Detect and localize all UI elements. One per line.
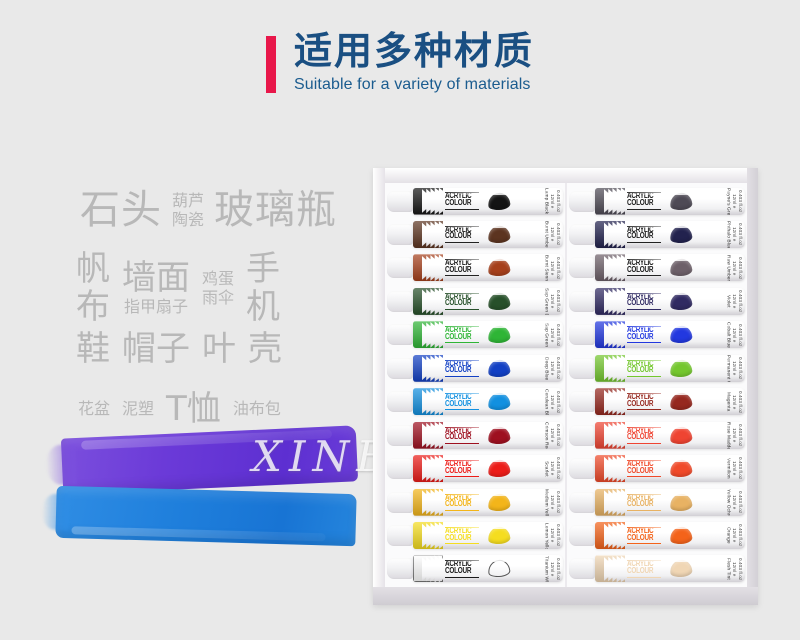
tube-volume-ml: 12ml e bbox=[731, 428, 736, 442]
tube-brand-label: ACRYLICCOLOUR bbox=[627, 360, 661, 377]
tube-column-2: ACRYLICCOLOURPayne's Grey12ml e0.403 fl.… bbox=[565, 183, 747, 587]
tube-cap bbox=[387, 358, 413, 379]
tube-color-swatch bbox=[487, 459, 511, 478]
tube-color-name: Sap Green Deep bbox=[543, 288, 548, 314]
tube-body: ACRYLICCOLOURRose Madder12ml e0.403 fl.o… bbox=[595, 422, 745, 449]
tube-body: ACRYLICCOLOURCobalt Blue12ml e0.403 fl.o… bbox=[595, 321, 745, 348]
tube-volume-ml: 12ml e bbox=[731, 495, 736, 509]
tube-crimp-end bbox=[595, 288, 625, 315]
tube-crimp-end bbox=[413, 455, 443, 482]
tube-info-label: Lamp Black12ml e0.403 fl.oz bbox=[510, 188, 563, 215]
tube-color-name: Flesh Tint bbox=[725, 558, 730, 580]
material-canvas-char-2: 布 bbox=[76, 288, 110, 326]
tube-info-label: Cobalt Blue12ml e0.403 fl.oz bbox=[692, 321, 745, 348]
tube-color-name: Payne's Grey bbox=[725, 188, 730, 214]
paint-tube[interactable]: ACRYLICCOLOURPhthalo Blue12ml e0.403 fl.… bbox=[569, 219, 745, 249]
tube-body: ACRYLICCOLOURYellow Ochre12ml e0.403 fl.… bbox=[595, 489, 745, 516]
tube-crimp-end bbox=[595, 455, 625, 482]
tube-volume-ml: 12ml e bbox=[731, 528, 736, 542]
box-rim-bottom bbox=[373, 587, 758, 605]
tube-body: ACRYLICCOLOURMedium Yellow12ml e0.403 fl… bbox=[413, 489, 563, 516]
tube-color-name: Rose Madder bbox=[725, 422, 730, 448]
tube-info-label: Raw Umber12ml e0.403 fl.oz bbox=[692, 254, 745, 281]
tube-body: ACRYLICCOLOURSap Green12ml e0.403 fl.oz bbox=[413, 321, 563, 348]
tube-color-name: Scarlet bbox=[543, 461, 548, 477]
tube-info-label: Phthalo Blue12ml e0.403 fl.oz bbox=[692, 221, 745, 248]
tube-volume-ml: 12ml e bbox=[731, 395, 736, 409]
paint-tube[interactable]: ACRYLICCOLOURScarlet12ml e0.403 fl.oz bbox=[387, 454, 563, 484]
tube-info-label: Flesh Tint12ml e0.403 fl.oz bbox=[692, 555, 745, 582]
tube-color-name: Lamp Black bbox=[543, 188, 548, 214]
tube-color-name: Medium Yellow bbox=[543, 489, 548, 515]
tube-volume-oz: 0.403 fl.oz bbox=[555, 190, 560, 212]
paint-tube[interactable]: ACRYLICCOLOURBurnt Sienna12ml e0.403 fl.… bbox=[387, 253, 563, 283]
tube-color-name: Magenta bbox=[725, 392, 730, 411]
tube-info-label: Titanium White12ml e0.403 fl.oz bbox=[510, 555, 563, 582]
material-phone-char-1: 手 bbox=[246, 250, 280, 288]
paint-tube[interactable]: ACRYLICCOLOURCobalt Blue12ml e0.403 fl.o… bbox=[569, 320, 745, 350]
tube-color-swatch bbox=[669, 426, 693, 445]
tube-volume-oz: 0.403 fl.oz bbox=[555, 324, 560, 346]
paint-tube[interactable]: ACRYLICCOLOURTitanium White12ml e0.403 f… bbox=[387, 554, 563, 584]
tube-color-swatch bbox=[487, 526, 511, 545]
material-gourd-ceramic: 葫芦 陶瓷 bbox=[172, 191, 204, 230]
brand-line-colour: COLOUR bbox=[627, 301, 661, 309]
tube-volume-ml: 12ml e bbox=[731, 194, 736, 208]
tube-crimp-end bbox=[413, 355, 443, 382]
material-shoes: 鞋 bbox=[76, 330, 110, 368]
tube-crimp-end bbox=[595, 388, 625, 415]
tube-crimp-end bbox=[595, 422, 625, 449]
tube-volume-oz: 0.403 fl.oz bbox=[555, 290, 560, 312]
material-hat: 帽子 bbox=[122, 330, 190, 368]
tube-brand-label: ACRYLICCOLOUR bbox=[445, 326, 479, 343]
tube-info-label: Medium Yellow12ml e0.403 fl.oz bbox=[510, 489, 563, 516]
brand-line-colour: COLOUR bbox=[445, 568, 479, 576]
brand-line-colour: COLOUR bbox=[445, 434, 479, 442]
tube-body: ACRYLICCOLOURSap Green Deep12ml e0.403 f… bbox=[413, 288, 563, 315]
material-umbrella: 雨伞 bbox=[202, 288, 234, 308]
tube-body: ACRYLICCOLOURFlesh Tint12ml e0.403 fl.oz bbox=[595, 555, 745, 582]
brand-line-colour: COLOUR bbox=[627, 234, 661, 242]
tube-brand-label: ACRYLICCOLOUR bbox=[627, 460, 661, 477]
material-shell: 壳 bbox=[248, 330, 282, 368]
materials-word-cloud: 石头 葫芦 陶瓷 玻璃瓶 帆 布 墙面 指甲扇子 鸡蛋 雨伞 手 机 鞋 bbox=[58, 188, 358, 438]
paint-tube-tray: ACRYLICCOLOURLamp Black12ml e0.403 fl.oz… bbox=[385, 183, 747, 587]
tube-color-name: Burnt Umber bbox=[543, 221, 548, 247]
tube-volume-ml: 12ml e bbox=[731, 261, 736, 275]
tube-brand-label: ACRYLICCOLOUR bbox=[445, 360, 479, 377]
tube-cap bbox=[569, 257, 595, 278]
material-tshirt: T恤 bbox=[166, 390, 221, 428]
tube-cap bbox=[569, 558, 595, 579]
tube-info-label: Deep Blue12ml e0.403 fl.oz bbox=[510, 355, 563, 382]
tube-crimp-end bbox=[413, 388, 443, 415]
tube-volume-oz: 0.403 fl.oz bbox=[555, 424, 560, 446]
tube-color-name: Violet bbox=[725, 295, 730, 308]
material-glass-bottle: 玻璃瓶 bbox=[214, 188, 337, 233]
tube-color-name: Deep Blue bbox=[543, 357, 548, 380]
material-canvas-char-1: 帆 bbox=[76, 250, 110, 288]
tube-brand-label: ACRYLICCOLOUR bbox=[627, 393, 661, 410]
tube-crimp-end bbox=[595, 522, 625, 549]
tube-crimp-end bbox=[595, 221, 625, 248]
tube-volume-oz: 0.403 fl.oz bbox=[737, 558, 742, 580]
brand-line-colour: COLOUR bbox=[627, 501, 661, 509]
material-wall-group: 墙面 指甲扇子 bbox=[122, 259, 190, 317]
tube-cap bbox=[569, 425, 595, 446]
tube-body: ACRYLICCOLOURBurnt Umber12ml e0.403 fl.o… bbox=[413, 221, 563, 248]
header-text-group: 适用多种材质 Suitable for a variety of materia… bbox=[294, 32, 534, 94]
tube-cap bbox=[569, 224, 595, 245]
tube-body: ACRYLICCOLOURLemon Yellow12ml e0.403 fl.… bbox=[413, 522, 563, 549]
tube-info-label: Crimson Red12ml e0.403 fl.oz bbox=[510, 422, 563, 449]
tube-body: ACRYLICCOLOURMagenta12ml e0.403 fl.oz bbox=[595, 388, 745, 415]
tube-color-swatch bbox=[669, 359, 693, 378]
tube-body: ACRYLICCOLOUROrange12ml e0.403 fl.oz bbox=[595, 522, 745, 549]
tube-crimp-end bbox=[413, 254, 443, 281]
tube-info-label: Orange12ml e0.403 fl.oz bbox=[692, 522, 745, 549]
material-nail-fan: 指甲扇子 bbox=[124, 297, 188, 317]
header-accent-bar bbox=[266, 36, 276, 93]
tube-volume-ml: 12ml e bbox=[549, 227, 554, 241]
tube-body: ACRYLICCOLOURPhthalo Blue12ml e0.403 fl.… bbox=[595, 221, 745, 248]
tube-body: ACRYLICCOLOURDeep Blue12ml e0.403 fl.oz bbox=[413, 355, 563, 382]
tube-crimp-end bbox=[595, 355, 625, 382]
paint-tube[interactable]: ACRYLICCOLOURLamp Black12ml e0.403 fl.oz bbox=[387, 186, 563, 216]
materials-row-2: 帆 布 墙面 指甲扇子 鸡蛋 雨伞 手 机 bbox=[76, 250, 280, 326]
brand-line-colour: COLOUR bbox=[627, 434, 661, 442]
page-subtitle-en: Suitable for a variety of materials bbox=[294, 76, 534, 94]
tube-volume-ml: 12ml e bbox=[731, 361, 736, 375]
brand-line-colour: COLOUR bbox=[445, 501, 479, 509]
box-rim-top bbox=[373, 168, 758, 183]
tube-color-swatch bbox=[669, 325, 693, 344]
tube-body: ACRYLICCOLOURPayne's Grey12ml e0.403 fl.… bbox=[595, 188, 745, 215]
tube-volume-ml: 12ml e bbox=[549, 328, 554, 342]
tube-body: ACRYLICCOLOURTitanium White12ml e0.403 f… bbox=[413, 555, 563, 582]
tube-crimp-end bbox=[595, 254, 625, 281]
tube-volume-ml: 12ml e bbox=[731, 461, 736, 475]
paint-tube[interactable]: ACRYLICCOLOURVermilion12ml e0.403 fl.oz bbox=[569, 454, 745, 484]
tube-brand-label: ACRYLICCOLOUR bbox=[627, 560, 661, 577]
tube-body: ACRYLICCOLOURCerulean Blue12ml e0.403 fl… bbox=[413, 388, 563, 415]
tube-volume-ml: 12ml e bbox=[731, 328, 736, 342]
tube-brand-label: ACRYLICCOLOUR bbox=[627, 326, 661, 343]
tube-volume-oz: 0.403 fl.oz bbox=[737, 357, 742, 379]
tube-volume-oz: 0.403 fl.oz bbox=[737, 223, 742, 245]
brand-line-colour: COLOUR bbox=[445, 468, 479, 476]
tube-brand-label: ACRYLICCOLOUR bbox=[445, 192, 479, 209]
tube-volume-ml: 12ml e bbox=[731, 562, 736, 576]
tube-body: ACRYLICCOLOURRaw Umber12ml e0.403 fl.oz bbox=[595, 254, 745, 281]
tube-crimp-end bbox=[413, 288, 443, 315]
tube-info-label: Permanent Green Light12ml e0.403 fl.oz bbox=[692, 355, 745, 382]
tube-cap bbox=[569, 324, 595, 345]
tube-info-label: Lemon Yellow12ml e0.403 fl.oz bbox=[510, 522, 563, 549]
materials-row-1: 石头 葫芦 陶瓷 玻璃瓶 bbox=[80, 188, 337, 233]
paint-tube[interactable]: ACRYLICCOLOUROrange12ml e0.403 fl.oz bbox=[569, 521, 745, 551]
materials-row-3: 鞋 帽子 叶 壳 bbox=[76, 330, 282, 368]
tube-color-swatch bbox=[487, 258, 511, 277]
tube-volume-ml: 12ml e bbox=[549, 294, 554, 308]
brand-line-colour: COLOUR bbox=[627, 334, 661, 342]
brand-line-colour: COLOUR bbox=[627, 401, 661, 409]
tube-cap bbox=[387, 191, 413, 212]
paint-tube[interactable]: ACRYLICCOLOURYellow Ochre12ml e0.403 fl.… bbox=[569, 487, 745, 517]
brand-line-colour: COLOUR bbox=[627, 568, 661, 576]
tube-color-name: Cerulean Blue bbox=[543, 389, 548, 415]
tube-volume-oz: 0.403 fl.oz bbox=[555, 558, 560, 580]
tube-crimp-end bbox=[413, 221, 443, 248]
tube-cap bbox=[387, 291, 413, 312]
brand-line-colour: COLOUR bbox=[445, 234, 479, 242]
tube-volume-ml: 12ml e bbox=[549, 528, 554, 542]
tube-color-swatch bbox=[487, 559, 511, 578]
tube-cap bbox=[387, 257, 413, 278]
tube-crimp-end bbox=[413, 422, 443, 449]
tube-volume-oz: 0.403 fl.oz bbox=[737, 290, 742, 312]
material-oilcloth-bag: 油布包 bbox=[233, 399, 281, 419]
tube-crimp-end bbox=[595, 555, 625, 582]
page-title-cn: 适用多种材质 bbox=[294, 32, 534, 72]
brand-line-colour: COLOUR bbox=[627, 535, 661, 543]
tube-crimp-end bbox=[595, 321, 625, 348]
purple-brush-stroke bbox=[61, 425, 358, 494]
paint-tube[interactable]: ACRYLICCOLOURFlesh Tint12ml e0.403 fl.oz bbox=[569, 554, 745, 584]
tube-volume-oz: 0.403 fl.oz bbox=[737, 524, 742, 546]
tube-info-label: Scarlet12ml e0.403 fl.oz bbox=[510, 455, 563, 482]
tube-color-name: Crimson Red bbox=[543, 422, 548, 448]
tube-brand-label: ACRYLICCOLOUR bbox=[445, 226, 479, 243]
tube-column-1: ACRYLICCOLOURLamp Black12ml e0.403 fl.oz… bbox=[385, 183, 565, 587]
paint-tube[interactable]: ACRYLICCOLOURSap Green12ml e0.403 fl.oz bbox=[387, 320, 563, 350]
tube-cap bbox=[569, 492, 595, 513]
tube-volume-oz: 0.403 fl.oz bbox=[555, 491, 560, 513]
tube-color-name: Vermilion bbox=[725, 458, 730, 479]
page-header: 适用多种材质 Suitable for a variety of materia… bbox=[0, 32, 800, 94]
brand-line-colour: COLOUR bbox=[627, 367, 661, 375]
paint-tube[interactable]: ACRYLICCOLOURRose Madder12ml e0.403 fl.o… bbox=[569, 420, 745, 450]
tube-volume-ml: 12ml e bbox=[549, 495, 554, 509]
brand-line-colour: COLOUR bbox=[445, 267, 479, 275]
tube-volume-oz: 0.403 fl.oz bbox=[737, 324, 742, 346]
tube-crimp-end bbox=[413, 188, 443, 215]
tube-color-swatch bbox=[669, 559, 693, 578]
tube-volume-ml: 12ml e bbox=[731, 227, 736, 241]
paint-tube[interactable]: ACRYLICCOLOURPermanent Green Light12ml e… bbox=[569, 353, 745, 383]
paint-tube[interactable]: ACRYLICCOLOURCrimson Red12ml e0.403 fl.o… bbox=[387, 420, 563, 450]
tube-cap bbox=[387, 391, 413, 412]
paint-tube[interactable]: ACRYLICCOLOURSap Green Deep12ml e0.403 f… bbox=[387, 286, 563, 316]
material-leaf: 叶 bbox=[202, 330, 236, 368]
tube-volume-ml: 12ml e bbox=[549, 428, 554, 442]
tube-info-label: Rose Madder12ml e0.403 fl.oz bbox=[692, 422, 745, 449]
paint-tube[interactable]: ACRYLICCOLOURBurnt Umber12ml e0.403 fl.o… bbox=[387, 219, 563, 249]
tube-brand-label: ACRYLICCOLOUR bbox=[627, 259, 661, 276]
box-rim-right bbox=[747, 168, 758, 605]
tube-crimp-end bbox=[595, 489, 625, 516]
tube-brand-label: ACRYLICCOLOUR bbox=[445, 259, 479, 276]
brand-line-colour: COLOUR bbox=[627, 267, 661, 275]
tube-brand-label: ACRYLICCOLOUR bbox=[445, 393, 479, 410]
tube-body: ACRYLICCOLOURCrimson Red12ml e0.403 fl.o… bbox=[413, 422, 563, 449]
tube-cap bbox=[569, 291, 595, 312]
tube-cap bbox=[569, 391, 595, 412]
box-rim-left bbox=[373, 168, 385, 605]
tube-body: ACRYLICCOLOURVermilion12ml e0.403 fl.oz bbox=[595, 455, 745, 482]
tube-brand-label: ACRYLICCOLOUR bbox=[627, 192, 661, 209]
tube-color-swatch bbox=[487, 392, 511, 411]
tube-info-label: Sap Green12ml e0.403 fl.oz bbox=[510, 321, 563, 348]
tube-cap bbox=[387, 425, 413, 446]
tube-volume-oz: 0.403 fl.oz bbox=[555, 524, 560, 546]
tube-volume-oz: 0.403 fl.oz bbox=[737, 457, 742, 479]
tube-crimp-end bbox=[413, 321, 443, 348]
tube-volume-oz: 0.403 fl.oz bbox=[737, 424, 742, 446]
tube-color-swatch bbox=[669, 392, 693, 411]
tube-crimp-end bbox=[413, 489, 443, 516]
tube-color-name: Lemon Yellow bbox=[543, 523, 548, 549]
tube-color-name: Sap Green bbox=[543, 323, 548, 347]
tube-color-name: Yellow Ochre bbox=[725, 489, 730, 515]
tube-color-swatch bbox=[487, 191, 511, 210]
tube-cap bbox=[569, 191, 595, 212]
tube-volume-ml: 12ml e bbox=[549, 562, 554, 576]
tube-brand-label: ACRYLICCOLOUR bbox=[445, 560, 479, 577]
tube-color-swatch bbox=[669, 292, 693, 311]
tube-info-label: Burnt Sienna12ml e0.403 fl.oz bbox=[510, 254, 563, 281]
tube-volume-ml: 12ml e bbox=[731, 294, 736, 308]
material-gourd: 葫芦 bbox=[172, 191, 204, 211]
brand-line-colour: COLOUR bbox=[445, 334, 479, 342]
tube-info-label: Sap Green Deep12ml e0.403 fl.oz bbox=[510, 288, 563, 315]
tube-cap bbox=[387, 558, 413, 579]
material-phone: 手 机 bbox=[246, 250, 280, 326]
tube-color-swatch bbox=[487, 426, 511, 445]
tube-brand-label: ACRYLICCOLOUR bbox=[627, 226, 661, 243]
tube-volume-oz: 0.403 fl.oz bbox=[737, 257, 742, 279]
paint-tube[interactable]: ACRYLICCOLOURCerulean Blue12ml e0.403 fl… bbox=[387, 387, 563, 417]
brand-line-colour: COLOUR bbox=[627, 200, 661, 208]
tube-color-name: Titanium White bbox=[543, 556, 548, 582]
material-egg-umbrella: 鸡蛋 雨伞 bbox=[202, 269, 234, 308]
tube-color-swatch bbox=[669, 225, 693, 244]
tube-brand-label: ACRYLICCOLOUR bbox=[627, 293, 661, 310]
tube-info-label: Magenta12ml e0.403 fl.oz bbox=[692, 388, 745, 415]
tube-volume-oz: 0.403 fl.oz bbox=[737, 190, 742, 212]
tube-color-swatch bbox=[669, 492, 693, 511]
material-ceramic: 陶瓷 bbox=[172, 210, 204, 230]
paint-tube[interactable]: ACRYLICCOLOURRaw Umber12ml e0.403 fl.oz bbox=[569, 253, 745, 283]
material-flowerpot: 花盆 bbox=[78, 399, 110, 419]
paint-tube[interactable]: ACRYLICCOLOURMagenta12ml e0.403 fl.oz bbox=[569, 387, 745, 417]
tube-volume-oz: 0.403 fl.oz bbox=[555, 457, 560, 479]
tube-cap bbox=[569, 358, 595, 379]
tube-brand-label: ACRYLICCOLOUR bbox=[627, 427, 661, 444]
tube-color-name: Phthalo Blue bbox=[725, 221, 730, 247]
brand-line-colour: COLOUR bbox=[445, 535, 479, 543]
tube-cap bbox=[569, 458, 595, 479]
material-canvas: 帆 布 bbox=[76, 250, 110, 326]
tube-info-label: Cerulean Blue12ml e0.403 fl.oz bbox=[510, 388, 563, 415]
tube-info-label: Violet12ml e0.403 fl.oz bbox=[692, 288, 745, 315]
brand-line-colour: COLOUR bbox=[445, 301, 479, 309]
brand-line-colour: COLOUR bbox=[627, 468, 661, 476]
tube-volume-oz: 0.403 fl.oz bbox=[737, 391, 742, 413]
tube-brand-label: ACRYLICCOLOUR bbox=[627, 527, 661, 544]
tube-info-label: Vermilion12ml e0.403 fl.oz bbox=[692, 455, 745, 482]
tube-color-name: Raw Umber bbox=[725, 255, 730, 281]
tube-cap bbox=[387, 492, 413, 513]
paint-tube[interactable]: ACRYLICCOLOURLemon Yellow12ml e0.403 fl.… bbox=[387, 521, 563, 551]
tube-info-label: Yellow Ochre12ml e0.403 fl.oz bbox=[692, 489, 745, 516]
tube-color-swatch bbox=[487, 359, 511, 378]
tube-volume-ml: 12ml e bbox=[549, 361, 554, 375]
tube-body: ACRYLICCOLOURPermanent Green Light12ml e… bbox=[595, 355, 745, 382]
tube-crimp-end bbox=[413, 555, 443, 582]
tube-volume-oz: 0.403 fl.oz bbox=[555, 257, 560, 279]
tube-info-label: Payne's Grey12ml e0.403 fl.oz bbox=[692, 188, 745, 215]
materials-row-4: 花盆 泥塑 T恤 油布包 bbox=[78, 390, 281, 428]
tube-body: ACRYLICCOLOURBurnt Sienna12ml e0.403 fl.… bbox=[413, 254, 563, 281]
tube-volume-ml: 12ml e bbox=[549, 261, 554, 275]
tube-volume-ml: 12ml e bbox=[549, 395, 554, 409]
tube-body: ACRYLICCOLOURLamp Black12ml e0.403 fl.oz bbox=[413, 188, 563, 215]
material-clay-sculpture: 泥塑 bbox=[122, 399, 154, 419]
header-content: 适用多种材质 Suitable for a variety of materia… bbox=[266, 32, 534, 94]
material-wall: 墙面 bbox=[122, 259, 190, 297]
tube-volume-ml: 12ml e bbox=[549, 461, 554, 475]
acrylic-paint-set-box: ACRYLICCOLOURLamp Black12ml e0.403 fl.oz… bbox=[373, 168, 758, 605]
tube-volume-oz: 0.403 fl.oz bbox=[555, 223, 560, 245]
material-egg: 鸡蛋 bbox=[202, 269, 234, 289]
tube-brand-label: ACRYLICCOLOUR bbox=[445, 427, 479, 444]
tube-cap bbox=[387, 224, 413, 245]
tube-brand-label: ACRYLICCOLOUR bbox=[445, 527, 479, 544]
brand-line-colour: COLOUR bbox=[445, 367, 479, 375]
tube-brand-label: ACRYLICCOLOUR bbox=[445, 293, 479, 310]
tube-color-name: Burnt Sienna bbox=[543, 255, 548, 281]
paint-tube[interactable]: ACRYLICCOLOURMedium Yellow12ml e0.403 fl… bbox=[387, 487, 563, 517]
paint-tube[interactable]: ACRYLICCOLOURViolet12ml e0.403 fl.oz bbox=[569, 286, 745, 316]
tube-volume-ml: 12ml e bbox=[549, 194, 554, 208]
tube-color-name: Permanent Green Light bbox=[725, 355, 730, 381]
tube-volume-oz: 0.403 fl.oz bbox=[555, 357, 560, 379]
paint-tube[interactable]: ACRYLICCOLOURPayne's Grey12ml e0.403 fl.… bbox=[569, 186, 745, 216]
blue-brush-stroke bbox=[55, 486, 356, 546]
tube-color-name: Orange bbox=[725, 527, 730, 544]
tube-cap bbox=[387, 458, 413, 479]
tube-brand-label: ACRYLICCOLOUR bbox=[627, 494, 661, 511]
tube-volume-oz: 0.403 fl.oz bbox=[737, 491, 742, 513]
tube-color-swatch bbox=[487, 492, 511, 511]
tube-cap bbox=[387, 525, 413, 546]
tube-crimp-end bbox=[413, 522, 443, 549]
brand-line-colour: COLOUR bbox=[445, 401, 479, 409]
tube-cap bbox=[387, 324, 413, 345]
tube-color-swatch bbox=[669, 459, 693, 478]
tube-brand-label: ACRYLICCOLOUR bbox=[445, 460, 479, 477]
material-stone: 石头 bbox=[80, 188, 162, 233]
paint-tube[interactable]: ACRYLICCOLOURDeep Blue12ml e0.403 fl.oz bbox=[387, 353, 563, 383]
tube-crimp-end bbox=[595, 188, 625, 215]
tube-color-swatch bbox=[487, 292, 511, 311]
material-phone-char-2: 机 bbox=[246, 288, 280, 326]
tube-cap bbox=[569, 525, 595, 546]
tube-info-label: Burnt Umber12ml e0.403 fl.oz bbox=[510, 221, 563, 248]
tube-color-swatch bbox=[669, 526, 693, 545]
